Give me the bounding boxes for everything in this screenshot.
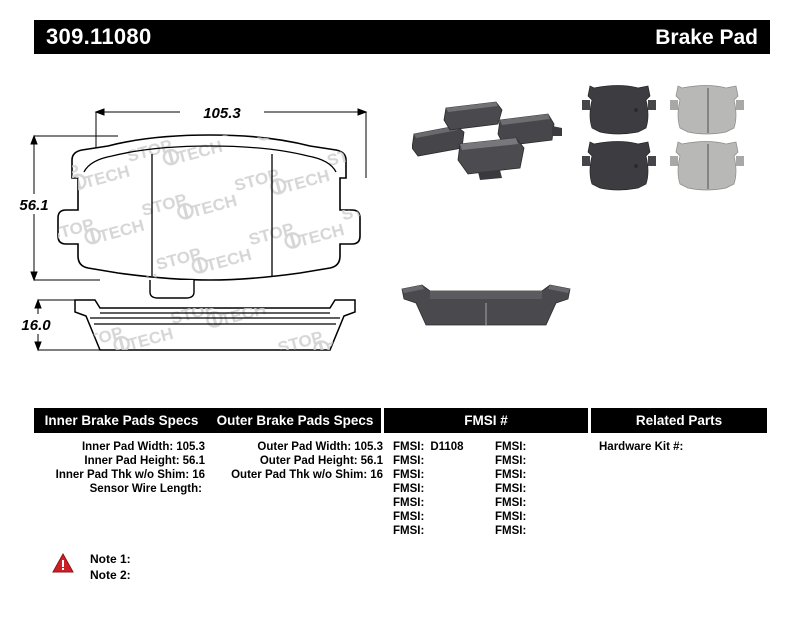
fmsi-value <box>424 511 430 523</box>
pad-grid-light-top <box>670 86 744 135</box>
spec-label: Outer Pad Thk w/o Shim: <box>231 469 367 481</box>
fmsi-row: FMSI: <box>495 524 591 538</box>
spec-value: 56.1 <box>180 455 205 467</box>
spec-row: Inner Pad Width:105.3 <box>34 440 209 454</box>
spec-table: Inner Brake Pads Specs Outer Brake Pads … <box>34 408 770 538</box>
spec-value: 105.3 <box>173 441 205 453</box>
fmsi-label: FMSI: <box>495 497 526 509</box>
spec-label: Outer Pad Height: <box>260 455 358 467</box>
related-parts-label: Hardware Kit #: <box>599 441 683 453</box>
pad-photo-4 <box>458 138 524 180</box>
table-header-fmsi: FMSI # <box>384 408 591 433</box>
spec-row: Inner Pad Thk w/o Shim:16 <box>34 468 209 482</box>
table-header-related-parts: Related Parts <box>591 408 767 433</box>
fmsi-row: FMSI: <box>495 496 591 510</box>
spec-row: Outer Pad Height:56.1 <box>209 454 387 468</box>
fmsi-label: FMSI: <box>393 497 424 509</box>
fmsi-value: D1108 <box>424 441 463 453</box>
fmsi-label: FMSI: <box>495 525 526 537</box>
spec-label: Outer Pad Width: <box>257 441 351 453</box>
fmsi-label: FMSI: <box>393 525 424 537</box>
fmsi-value <box>424 455 430 467</box>
fmsi-row: FMSI: <box>495 510 591 524</box>
spec-value: 105.3 <box>351 441 383 453</box>
fmsi-label: FMSI: <box>495 469 526 481</box>
pad-grid-dark-bottom <box>582 142 656 191</box>
fmsi-row: FMSI: <box>393 468 489 482</box>
page-title: Brake Pad <box>655 27 758 48</box>
dimension-thickness-label: 16.0 <box>21 317 51 334</box>
fmsi-value <box>526 497 532 509</box>
fmsi-row: FMSI: <box>495 454 591 468</box>
fmsi-row: FMSI: <box>495 482 591 496</box>
product-photo-pad-grid <box>580 82 750 194</box>
spec-row: Outer Pad Thk w/o Shim:16 <box>209 468 387 482</box>
fmsi-value <box>424 525 430 537</box>
spec-row: Sensor Wire Length: <box>34 482 209 496</box>
spec-value <box>202 483 205 495</box>
fmsi-label: FMSI: <box>393 441 424 453</box>
notes-section: Note 1: Note 2: <box>52 551 131 583</box>
notes-text: Note 1: Note 2: <box>90 551 131 583</box>
drawing-area: STOP TECH 105.3 <box>0 60 800 390</box>
fmsi-label: FMSI: <box>393 511 424 523</box>
fmsi-value <box>424 483 430 495</box>
fmsi-subcolumn-right: FMSI: FMSI: FMSI: FMSI: FMSI: FMSI: <box>489 440 591 538</box>
fmsi-row: FMSI: <box>393 482 489 496</box>
fmsi-value <box>526 469 532 481</box>
outer-specs-column: Outer Pad Width:105.3 Outer Pad Height:5… <box>209 440 387 538</box>
fmsi-value <box>424 469 430 481</box>
spec-row: Inner Pad Height:56.1 <box>34 454 209 468</box>
dimension-height-label: 56.1 <box>19 197 48 214</box>
spec-value: 56.1 <box>358 455 383 467</box>
pad-face-drawing <box>40 120 380 298</box>
fmsi-subcolumn-left: FMSI:D1108 FMSI: FMSI: FMSI: FMSI: FMSI: <box>387 440 489 538</box>
product-photo-angled-pads <box>412 86 582 196</box>
table-header-outer-specs: Outer Brake Pads Specs <box>209 408 384 433</box>
inner-specs-column: Inner Pad Width:105.3 Inner Pad Height:5… <box>34 440 209 538</box>
spec-label: Inner Pad Width: <box>82 441 173 453</box>
warning-triangle-icon <box>52 553 74 573</box>
spec-label: Inner Pad Thk w/o Shim: <box>56 469 190 481</box>
header-bar: 309.11080 Brake Pad <box>34 20 770 54</box>
fmsi-value <box>526 511 532 523</box>
note-1: Note 1: <box>90 551 131 567</box>
fmsi-label: FMSI: <box>393 455 424 467</box>
spec-label: Inner Pad Height: <box>84 455 179 467</box>
fmsi-column: FMSI:D1108 FMSI: FMSI: FMSI: FMSI: FMSI: <box>387 440 591 538</box>
fmsi-label: FMSI: <box>495 483 526 495</box>
fmsi-value <box>424 497 430 509</box>
fmsi-row: FMSI: <box>495 440 591 454</box>
dimension-width-label: 105.3 <box>203 105 241 122</box>
pad-photo-2 <box>444 102 502 130</box>
technical-drawing: STOP TECH 105.3 <box>0 60 420 390</box>
fmsi-row: FMSI: <box>495 468 591 482</box>
fmsi-row: FMSI:D1108 <box>393 440 489 454</box>
fmsi-value <box>526 483 532 495</box>
fmsi-value <box>526 525 532 537</box>
table-header-inner-specs: Inner Brake Pads Specs <box>34 408 209 433</box>
part-number: 309.11080 <box>46 26 151 48</box>
fmsi-label: FMSI: <box>495 441 526 453</box>
fmsi-row: FMSI: <box>393 496 489 510</box>
product-photo-side-view <box>396 273 576 337</box>
table-header-row: Inner Brake Pads Specs Outer Brake Pads … <box>34 408 770 433</box>
fmsi-label: FMSI: <box>393 469 424 481</box>
table-body: Inner Pad Width:105.3 Inner Pad Height:5… <box>34 433 770 538</box>
pad-photo-1 <box>412 126 464 156</box>
pad-grid-light-bottom <box>670 142 744 191</box>
fmsi-label: FMSI: <box>495 455 526 467</box>
fmsi-label: FMSI: <box>393 483 424 495</box>
related-parts-column: Hardware Kit #: <box>591 440 767 538</box>
fmsi-row: FMSI: <box>393 510 489 524</box>
spec-value: 16 <box>367 469 383 481</box>
spec-value: 16 <box>189 469 205 481</box>
fmsi-value <box>526 441 532 453</box>
fmsi-row: FMSI: <box>393 524 489 538</box>
pad-side-drawing <box>60 296 370 356</box>
fmsi-value <box>526 455 532 467</box>
spec-label: Sensor Wire Length: <box>90 483 202 495</box>
pad-grid-dark-top <box>582 86 656 135</box>
related-parts-row: Hardware Kit #: <box>591 440 767 454</box>
note-2: Note 2: <box>90 567 131 583</box>
fmsi-label: FMSI: <box>495 511 526 523</box>
fmsi-row: FMSI: <box>393 454 489 468</box>
spec-row: Outer Pad Width:105.3 <box>209 440 387 454</box>
